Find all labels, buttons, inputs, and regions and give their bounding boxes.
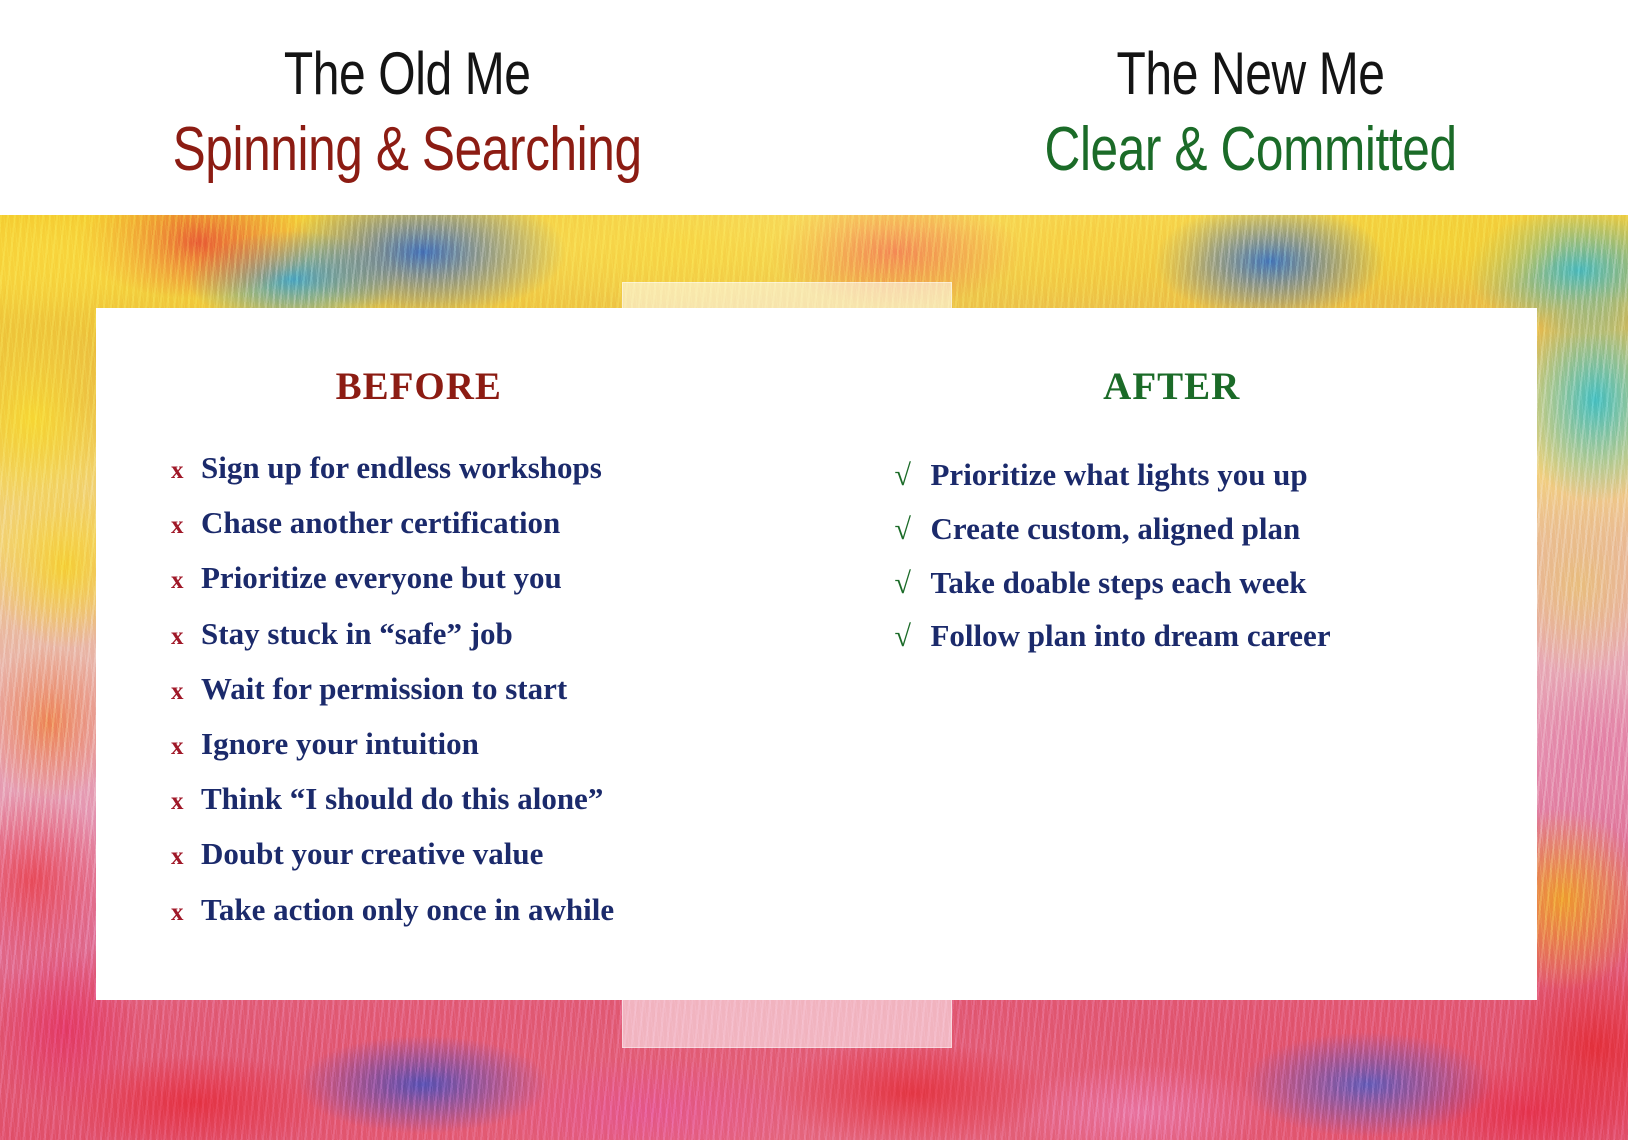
list-item: √Create custom, aligned plan — [895, 503, 1538, 557]
before-heading: BEFORE — [96, 364, 817, 409]
header-left-title: The Old Me — [284, 42, 531, 105]
after-column: AFTER √Prioritize what lights you up√Cre… — [817, 308, 1538, 1000]
checkmark-marker-icon: √ — [895, 611, 931, 664]
list-item: xThink “I should do this alone” — [171, 773, 817, 828]
after-list: √Prioritize what lights you up√Create cu… — [817, 449, 1538, 664]
headers-bar: The Old Me Spinning & Searching The New … — [0, 0, 1628, 215]
cross-marker-icon: x — [171, 445, 201, 497]
list-item-label: Follow plan into dream career — [931, 610, 1538, 663]
before-column: BEFORE xSign up for endless workshopsxCh… — [96, 308, 817, 1000]
list-item-label: Doubt your creative value — [201, 828, 817, 880]
list-item: xStay stuck in “safe” job — [171, 608, 817, 663]
list-item-label: Chase another certification — [201, 497, 817, 549]
tape-band-bottom — [622, 996, 952, 1048]
checkmark-marker-icon: √ — [895, 450, 931, 503]
cross-marker-icon: x — [171, 721, 201, 773]
list-item-label: Take action only once in awhile — [201, 884, 817, 936]
cross-marker-icon: x — [171, 666, 201, 718]
before-list: xSign up for endless workshopsxChase ano… — [96, 442, 817, 939]
list-item-label: Sign up for endless workshops — [201, 442, 817, 494]
list-item-label: Ignore your intuition — [201, 718, 817, 770]
list-item: xWait for permission to start — [171, 663, 817, 718]
header-right-subtitle: Clear & Committed — [1045, 117, 1457, 182]
list-item-label: Think “I should do this alone” — [201, 773, 817, 825]
cross-marker-icon: x — [171, 776, 201, 828]
list-item: xIgnore your intuition — [171, 718, 817, 773]
slide-canvas: The Old Me Spinning & Searching The New … — [0, 0, 1628, 1140]
cross-marker-icon: x — [171, 887, 201, 939]
list-item: xChase another certification — [171, 497, 817, 552]
list-item: xTake action only once in awhile — [171, 884, 817, 939]
list-item: √Follow plan into dream career — [895, 610, 1538, 664]
list-item: √Take doable steps each week — [895, 557, 1538, 611]
header-left: The Old Me Spinning & Searching — [0, 0, 814, 215]
list-item-label: Take doable steps each week — [931, 557, 1538, 610]
list-item: xSign up for endless workshops — [171, 442, 817, 497]
list-item-label: Stay stuck in “safe” job — [201, 608, 817, 660]
list-item: xDoubt your creative value — [171, 828, 817, 883]
comparison-columns: BEFORE xSign up for endless workshopsxCh… — [96, 308, 1537, 1000]
header-right-title: The New Me — [1117, 42, 1385, 105]
checkmark-marker-icon: √ — [895, 558, 931, 611]
cross-marker-icon: x — [171, 500, 201, 552]
after-heading: AFTER — [817, 364, 1538, 409]
list-item: √Prioritize what lights you up — [895, 449, 1538, 503]
list-item: xPrioritize everyone but you — [171, 552, 817, 607]
checkmark-marker-icon: √ — [895, 504, 931, 557]
header-right: The New Me Clear & Committed — [814, 0, 1628, 215]
cross-marker-icon: x — [171, 611, 201, 663]
cross-marker-icon: x — [171, 555, 201, 607]
cross-marker-icon: x — [171, 831, 201, 883]
list-item-label: Prioritize everyone but you — [201, 552, 817, 604]
content-card: BEFORE xSign up for endless workshopsxCh… — [96, 308, 1537, 1000]
header-left-subtitle: Spinning & Searching — [172, 117, 641, 182]
list-item-label: Create custom, aligned plan — [931, 503, 1538, 556]
list-item-label: Wait for permission to start — [201, 663, 817, 715]
list-item-label: Prioritize what lights you up — [931, 449, 1538, 502]
